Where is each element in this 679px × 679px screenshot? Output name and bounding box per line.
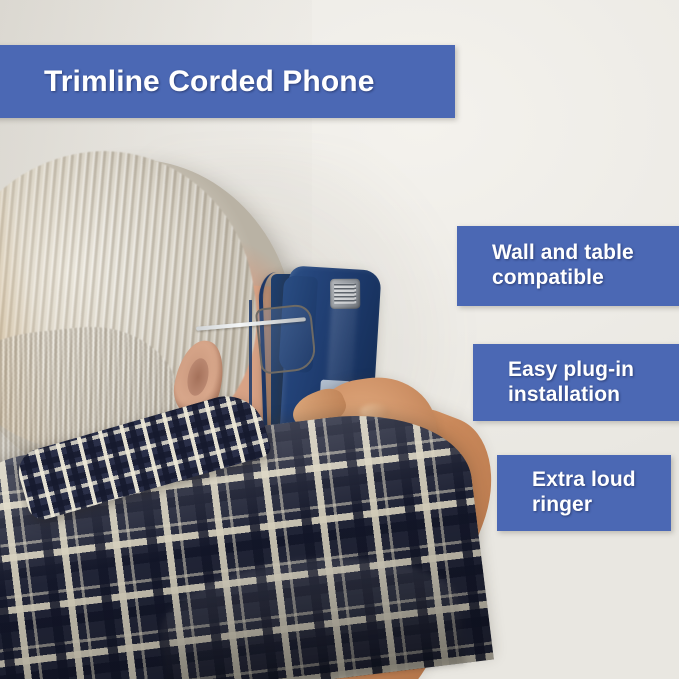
feature-text: Easy plug-in installation [508, 358, 679, 408]
feature-callout-extra-loud: Extra loud ringer [497, 455, 671, 531]
eyeglass-lens [255, 303, 318, 374]
feature-text: Wall and table compatible [492, 241, 679, 291]
feature-text: Extra loud ringer [532, 468, 671, 518]
product-image-card: Trimline Corded Phone Wall and table com… [0, 0, 679, 679]
title-text: Trimline Corded Phone [44, 64, 374, 99]
title-banner: Trimline Corded Phone [0, 45, 455, 118]
feature-callout-wall-and-table: Wall and table compatible [457, 226, 679, 306]
handset-speaker-grill [330, 279, 360, 309]
feature-callout-easy-plug-in: Easy plug-in installation [473, 344, 679, 421]
